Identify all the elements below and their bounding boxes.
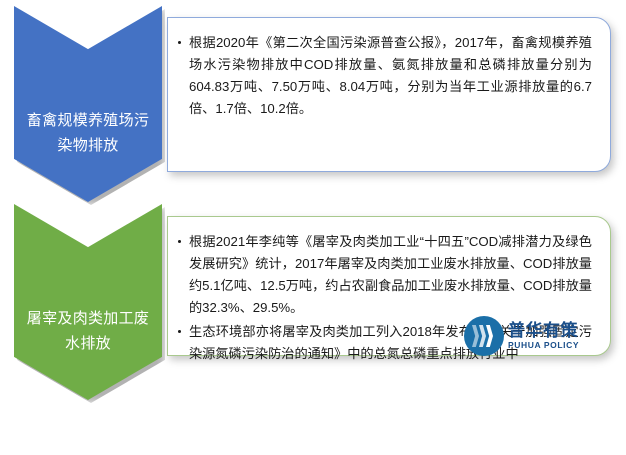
livestock-content-panel: 根据2020年《第二次全国污染源普查公报》，2017年，畜禽规模养殖场水污染物排…: [167, 17, 611, 172]
list-item-text: 生态环境部亦将屠宰及肉类加工列入2018年发布的《关于加强固定污染源氮磷污染防治…: [189, 324, 592, 361]
list-item: 根据2020年《第二次全国污染源普查公报》，2017年，畜禽规模养殖场水污染物排…: [178, 32, 592, 120]
list-item-text: 根据2020年《第二次全国污染源普查公报》，2017年，畜禽规模养殖场水污染物排…: [189, 35, 592, 116]
list-item: 生态环境部亦将屠宰及肉类加工列入2018年发布的《关于加强固定污染源氮磷污染防治…: [178, 321, 592, 365]
section-label-livestock-text: 畜禽规模养殖场污染物排放: [14, 108, 162, 202]
list-item-text: 根据2021年李纯等《屠宰及肉类加工业“十四五”COD减排潜力及绿色发展研究》统…: [189, 234, 592, 315]
livestock-bullet-list: 根据2020年《第二次全国污染源普查公报》，2017年，畜禽规模养殖场水污染物排…: [178, 32, 592, 120]
section-label-slaughter-text: 屠宰及肉类加工废水排放: [14, 306, 162, 400]
bullet-dot-icon: [178, 41, 181, 44]
slaughter-bullet-list: 根据2021年李纯等《屠宰及肉类加工业“十四五”COD减排潜力及绿色发展研究》统…: [178, 231, 592, 365]
infographic-canvas: 畜禽规模养殖场污染物排放 根据2020年《第二次全国污染源普查公报》，2017年…: [0, 0, 626, 455]
slaughter-content-panel: 根据2021年李纯等《屠宰及肉类加工业“十四五”COD减排潜力及绿色发展研究》统…: [167, 216, 611, 356]
bullet-dot-icon: [178, 330, 181, 333]
list-item: 根据2021年李纯等《屠宰及肉类加工业“十四五”COD减排潜力及绿色发展研究》统…: [178, 231, 592, 319]
bullet-dot-icon: [178, 240, 181, 243]
